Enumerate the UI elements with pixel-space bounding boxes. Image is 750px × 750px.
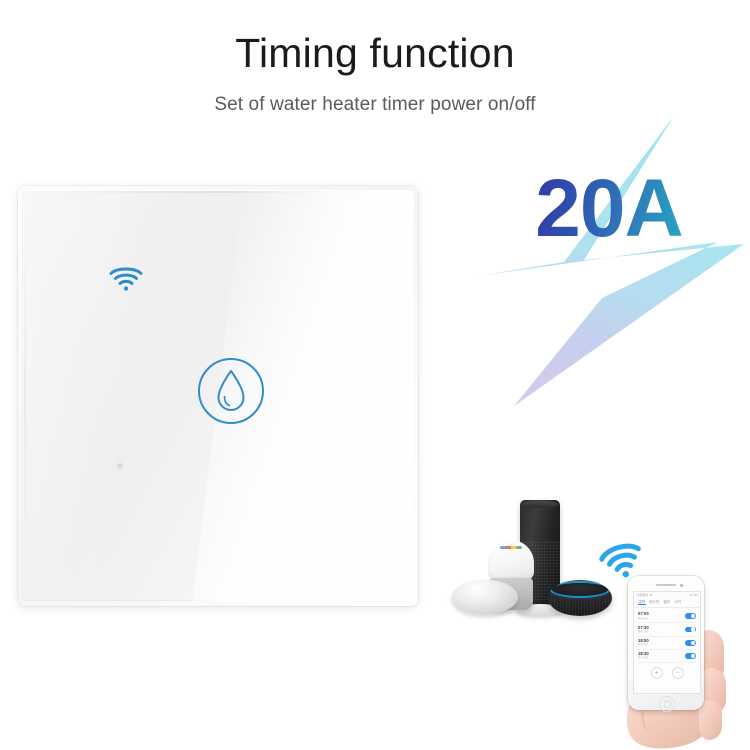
phone-front-camera-icon [680, 584, 683, 587]
status-time: 16:28 [690, 594, 698, 597]
phone-tab-bar: 定时 倒计时 循环 计时 [634, 598, 700, 608]
timer-time: 07:00 [638, 612, 649, 616]
timer-toggle[interactable] [685, 653, 696, 659]
timer-repeat: 每天 开启 [638, 618, 649, 620]
add-timer-button[interactable]: + [651, 667, 663, 679]
google-home-top [488, 540, 534, 580]
timer-toggle[interactable] [685, 627, 696, 633]
panel-left-edge [24, 194, 26, 596]
timer-time: 07:30 [638, 626, 649, 630]
smart-wall-switch-panel [18, 186, 418, 606]
led-indicator-dot [118, 464, 122, 468]
page-title: Timing function [0, 32, 750, 75]
tab-stopwatch[interactable]: 计时 [674, 599, 682, 605]
list-item[interactable]: 07:00 每天 开启 [638, 610, 696, 623]
status-carrier: 中国移动 4G [637, 593, 653, 597]
google-home-mini-speaker [452, 580, 518, 614]
lightning-bolt-icon [468, 110, 750, 410]
product-marketing-image: Timing function Set of water heater time… [0, 0, 750, 750]
phone-screen: 中国移动 4G 16:28 定时 倒计时 循环 计时 07:00 每天 开启 [633, 591, 701, 694]
amp-rating-badge: 20A [468, 110, 750, 410]
timer-repeat: 每天 开启 [638, 644, 649, 646]
smartphone: 中国移动 4G 16:28 定时 倒计时 循环 计时 07:00 每天 开启 [628, 576, 704, 710]
hand-holding-phone: 中国移动 4G 16:28 定时 倒计时 循环 计时 07:00 每天 开启 [602, 568, 750, 750]
timer-list: 07:00 每天 开启 07:30 每天 关闭 [634, 608, 700, 679]
water-heater-touch-button[interactable] [196, 356, 266, 426]
phone-earpiece [656, 584, 676, 586]
amp-rating-label: 20A [468, 168, 750, 250]
wifi-icon [108, 264, 144, 292]
list-item[interactable]: 18:30 每天 关闭 [638, 650, 696, 663]
list-item[interactable]: 07:30 每天 关闭 [638, 623, 696, 636]
tab-countdown[interactable]: 倒计时 [649, 599, 660, 605]
timer-actions: + ⋯ [638, 667, 696, 679]
tab-loop[interactable]: 循环 [663, 599, 671, 605]
timer-repeat: 每天 关闭 [638, 631, 649, 633]
list-item[interactable]: 18:00 每天 开启 [638, 637, 696, 650]
voice-assistant-speakers-group [452, 492, 612, 624]
timer-time: 18:00 [638, 639, 649, 643]
panel-top-edge [24, 191, 412, 193]
phone-home-button[interactable] [659, 696, 675, 712]
timer-repeat: 每天 关闭 [638, 657, 649, 659]
tab-timer[interactable]: 定时 [638, 599, 646, 605]
timer-time: 18:30 [638, 652, 649, 656]
timer-toggle[interactable] [685, 613, 696, 619]
google-home-led-dots [500, 546, 522, 549]
timer-toggle[interactable] [685, 640, 696, 646]
more-options-button[interactable]: ⋯ [672, 667, 684, 679]
